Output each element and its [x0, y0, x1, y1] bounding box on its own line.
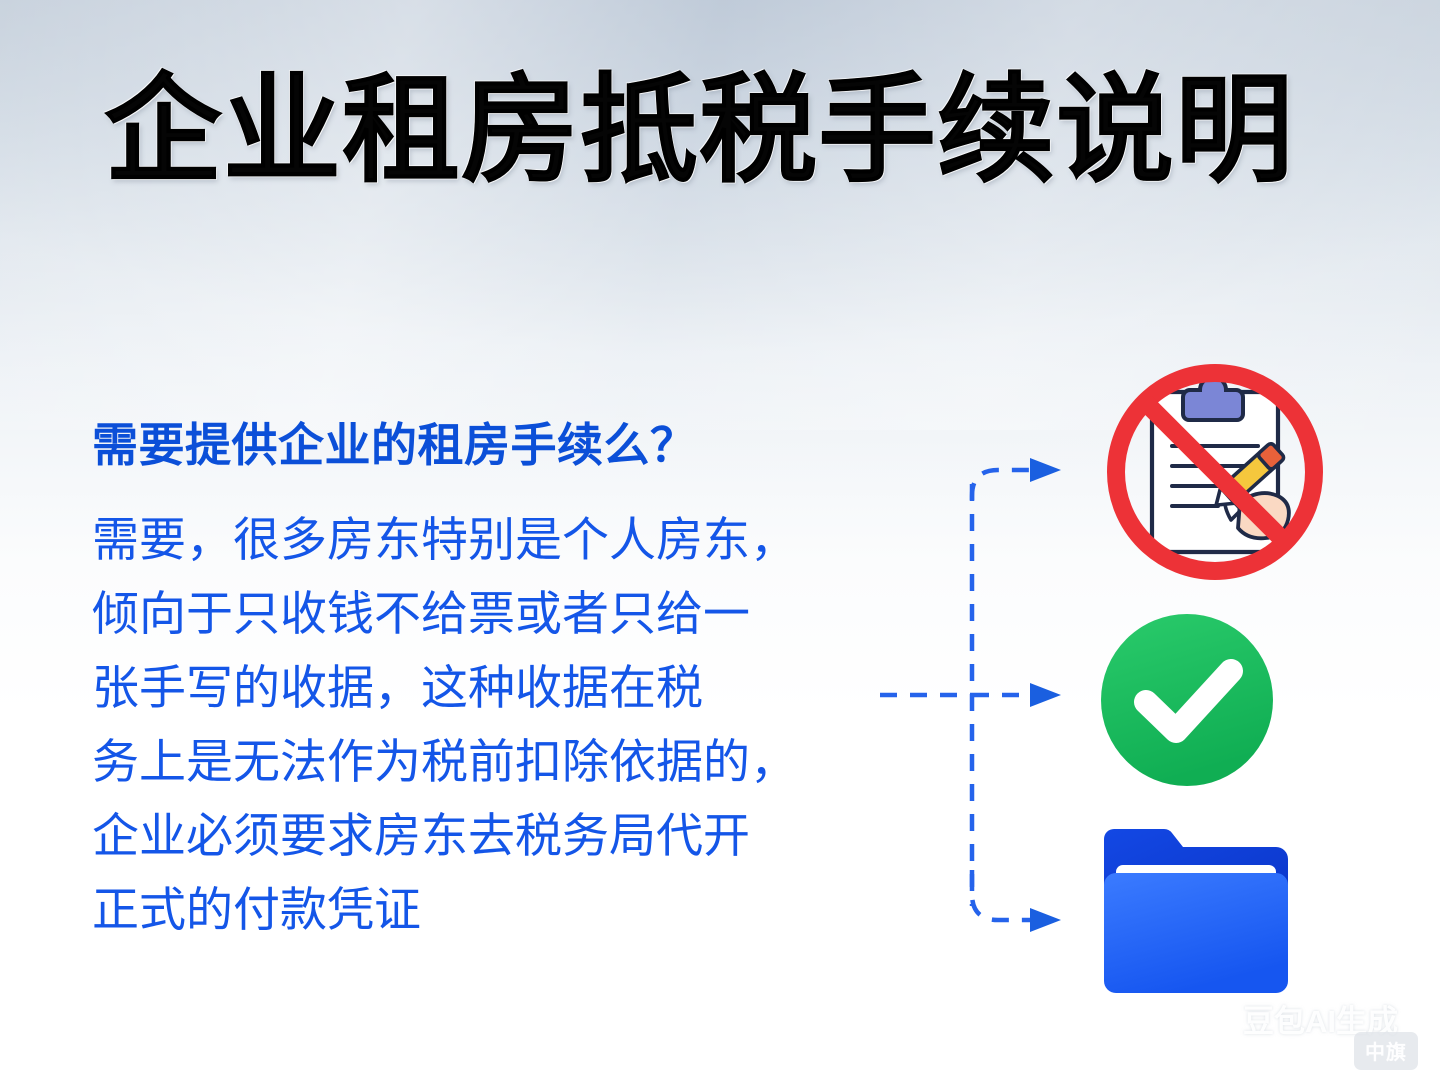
- connector-diagram: [880, 430, 1100, 940]
- slide-root: 企业租房抵税手续说明 需要提供企业的租房手续么？ 需要，很多房东特别是个人房东，…: [0, 0, 1440, 1080]
- body-line: 正式的付款凭证: [92, 873, 912, 947]
- copy-column: 需要提供企业的租房手续么？ 需要，很多房东特别是个人房东， 倾向于只收钱不给票或…: [92, 418, 912, 947]
- folder-icon: [1090, 815, 1340, 1015]
- body-line: 张手写的收据，这种收据在税: [92, 651, 912, 725]
- question-subheading: 需要提供企业的租房手续么？: [92, 418, 912, 473]
- page-title: 企业租房抵税手续说明: [104, 62, 1364, 201]
- body-line: 务上是无法作为税前扣除依据的，: [92, 725, 912, 799]
- watermark-badge: 中旗: [1354, 1032, 1418, 1070]
- connector-svg: [880, 430, 1100, 940]
- no-handwritten-receipt-icon: [1090, 360, 1340, 590]
- arrowhead-icon: [1030, 908, 1061, 932]
- connector-branch-top: [972, 470, 1032, 500]
- connector-branch-bottom: [972, 870, 1032, 920]
- check-circle-icon: [1090, 610, 1340, 790]
- arrowhead-icon: [1030, 458, 1061, 482]
- body-line: 需要，很多房东特别是个人房东，: [92, 503, 912, 577]
- arrowhead-icon: [1030, 683, 1061, 707]
- body-line: 倾向于只收钱不给票或者只给一: [92, 577, 912, 651]
- body-line: 企业必须要求房东去税务局代开: [92, 799, 912, 873]
- answer-paragraph: 需要，很多房东特别是个人房东， 倾向于只收钱不给票或者只给一 张手写的收据，这种…: [92, 503, 912, 947]
- icon-stack: [1090, 360, 1340, 1020]
